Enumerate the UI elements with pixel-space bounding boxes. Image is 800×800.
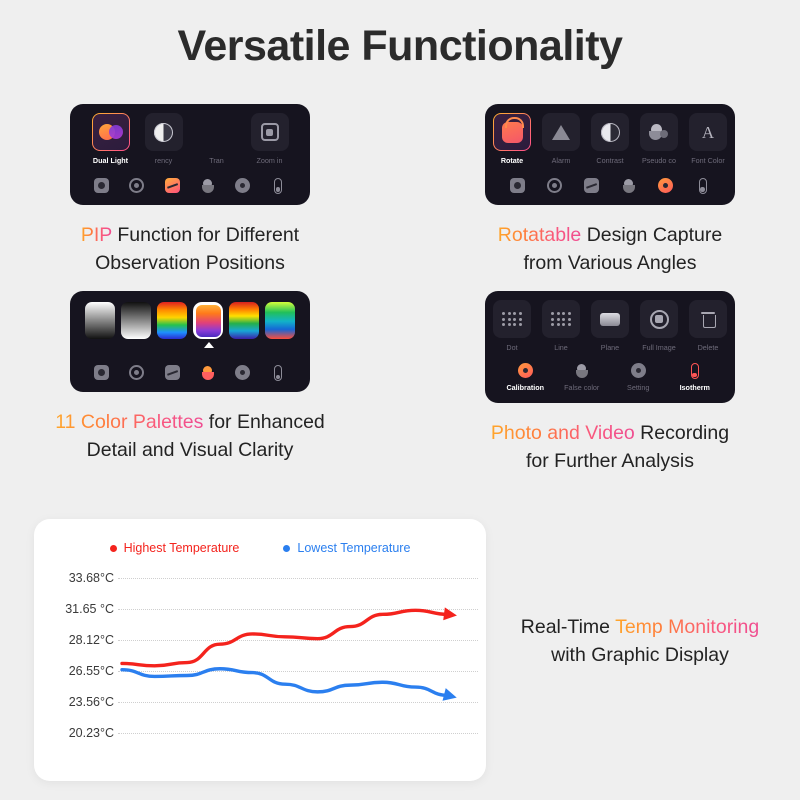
swatch-rainbow-cool[interactable]: [229, 302, 259, 339]
swatch-selected-caret: [70, 342, 310, 352]
toolbar-item-label: False color: [564, 383, 599, 392]
panel-labeled-toolbar: Calibration False color Setting Iso: [485, 352, 735, 396]
chart-lines: [118, 563, 478, 749]
thermometer-icon[interactable]: [694, 177, 711, 194]
thermometer-icon[interactable]: [270, 364, 287, 381]
tile-label: Dot: [506, 343, 517, 352]
tile-plane[interactable]: Plane: [589, 300, 631, 352]
tile-dot[interactable]: Dot: [491, 300, 533, 352]
caption-rotatable: Rotatable Design Capture from Various An…: [498, 222, 722, 277]
swatch-orange-purple[interactable]: [193, 302, 223, 339]
swatch-white-to-black[interactable]: [85, 302, 115, 339]
caption-line2: for Further Analysis: [526, 450, 694, 472]
chart-y-axis: 33.68°C 31.65 °C 28.12°C 26.55°C 23.56°C…: [42, 563, 114, 749]
tile-pseudo-color[interactable]: Pseudo co: [638, 113, 680, 165]
capture-icon[interactable]: [93, 364, 110, 381]
caption-line2: Detail and Visual Clarity: [87, 439, 294, 461]
page-title: Versatile Functionality: [0, 0, 800, 71]
capture-icon[interactable]: [509, 177, 526, 194]
y-tick-label: 23.56°C: [42, 687, 114, 718]
tile-label: rency: [155, 156, 173, 165]
dual-light-icon: [92, 113, 130, 151]
tile-label: Full Image: [642, 343, 676, 352]
caption-rest: Recording: [635, 422, 729, 444]
tile-label: Tran: [209, 156, 224, 165]
transparency-icon: [145, 113, 183, 151]
device-panel-measure[interactable]: Dot Line Plane: [485, 291, 735, 403]
chart-grid: [118, 563, 478, 763]
font-color-icon: A: [689, 113, 727, 151]
calibration-icon: [517, 362, 534, 379]
tile-label: Contrast: [596, 156, 623, 165]
gear-icon[interactable]: [657, 177, 674, 194]
chart-plot-area: 33.68°C 31.65 °C 28.12°C 26.55°C 23.56°C…: [34, 563, 486, 763]
y-tick-label: 33.68°C: [42, 563, 114, 594]
tile-label: Plane: [601, 343, 619, 352]
legend-label-lowest: Lowest Temperature: [297, 541, 410, 555]
y-tick-label: 26.55°C: [42, 656, 114, 687]
caption-rest: for Enhanced: [203, 411, 324, 433]
toolbar-item-false-color[interactable]: False color: [554, 362, 610, 392]
panel-toolbar: [485, 165, 735, 198]
caption-accent: Photo and Video: [491, 422, 635, 444]
temperature-chart-card: Highest Temperature Lowest Temperature 3…: [34, 519, 486, 781]
tile-line[interactable]: Line: [540, 300, 582, 352]
tile-label: Rotate: [501, 156, 523, 165]
plane-measure-icon: [591, 300, 629, 338]
feature-rotatable: Rotate Alarm Contrast Pseudo co: [460, 104, 760, 277]
y-tick-label: 31.65 °C: [42, 594, 114, 625]
chart-icon[interactable]: [164, 177, 181, 194]
tile-label: Dual Light: [93, 156, 128, 165]
tile-alarm[interactable]: Alarm: [540, 113, 582, 165]
alarm-icon: [542, 113, 580, 151]
caption-line2: with Graphic Display: [551, 644, 729, 666]
feature-pip: Dual Light rency Tran Zoom in: [40, 104, 340, 277]
thermometer-icon[interactable]: [270, 177, 287, 194]
target-icon[interactable]: [128, 364, 145, 381]
device-panel-palettes[interactable]: [70, 291, 310, 392]
feature-recording: Dot Line Plane: [460, 291, 760, 475]
palette-icon[interactable]: [199, 364, 216, 381]
toolbar-item-calibration[interactable]: Calibration: [497, 362, 553, 392]
line-measure-icon: [542, 300, 580, 338]
caption-accent: Temp Monitoring: [615, 616, 759, 638]
toolbar-item-isotherm[interactable]: Isotherm: [667, 362, 723, 392]
contrast-icon: [591, 113, 629, 151]
tile-transparency[interactable]: rency: [141, 113, 187, 165]
tile-label: Alarm: [552, 156, 571, 165]
y-tick-label: 20.23°C: [42, 718, 114, 749]
swatch-rainbow-warm[interactable]: [157, 302, 187, 339]
target-icon[interactable]: [128, 177, 145, 194]
gear-icon[interactable]: [234, 177, 251, 194]
panel-toolbar: [70, 352, 310, 385]
tile-label: Font Color: [691, 156, 725, 165]
toolbar-item-label: Calibration: [506, 383, 544, 392]
caption-temp-monitoring: Real-Time Temp Monitoring with Graphic D…: [490, 614, 790, 669]
chart-legend: Highest Temperature Lowest Temperature: [34, 519, 486, 555]
swatch-row: [70, 300, 310, 339]
tile-delete[interactable]: Delete: [687, 300, 729, 352]
feature-row-1: Dual Light rency Tran Zoom in: [0, 104, 800, 277]
swatch-black-to-white[interactable]: [121, 302, 151, 339]
swatch-green-rainbow[interactable]: [265, 302, 295, 339]
caption-accent: 11 Color Palettes: [55, 411, 203, 433]
full-image-icon: [640, 300, 678, 338]
features-grid: Dual Light rency Tran Zoom in: [0, 104, 800, 476]
tile-full-image[interactable]: Full Image: [638, 300, 680, 352]
device-panel-pip[interactable]: Dual Light rency Tran Zoom in: [70, 104, 310, 205]
toolbar-item-setting[interactable]: Setting: [610, 362, 666, 392]
tile-row: Dual Light rency Tran Zoom in: [70, 113, 310, 165]
y-tick-label: 28.12°C: [42, 625, 114, 656]
caption-palettes: 11 Color Palettes for Enhanced Detail an…: [55, 409, 325, 464]
tile-tran[interactable]: Tran: [194, 113, 240, 165]
chart-icon[interactable]: [164, 364, 181, 381]
caption-rest: Function for Different: [112, 224, 299, 246]
legend-item-lowest: Lowest Temperature: [283, 541, 410, 555]
setting-icon: [630, 362, 647, 379]
toolbar-item-label: Setting: [627, 383, 649, 392]
pseudo-color-icon: [640, 113, 678, 151]
tile-row: Rotate Alarm Contrast Pseudo co: [485, 113, 735, 165]
tile-zoom-in[interactable]: Zoom in: [247, 113, 293, 165]
transparency-icon-ghost: [198, 113, 236, 151]
feature-palettes: 11 Color Palettes for Enhanced Detail an…: [40, 291, 340, 475]
caption-accent: PIP: [81, 224, 112, 246]
chart-icon[interactable]: [583, 177, 600, 194]
legend-label-highest: Highest Temperature: [124, 541, 240, 555]
palette-icon[interactable]: [199, 177, 216, 194]
isotherm-icon: [686, 362, 703, 379]
tile-contrast[interactable]: Contrast: [589, 113, 631, 165]
capture-icon[interactable]: [93, 177, 110, 194]
caption-line2: Observation Positions: [95, 252, 285, 274]
target-icon[interactable]: [546, 177, 563, 194]
caption-recording: Photo and Video Recording for Further An…: [491, 420, 729, 475]
toolbar-item-label: Isotherm: [680, 383, 710, 392]
false-color-icon: [573, 362, 590, 379]
legend-item-highest: Highest Temperature: [110, 541, 240, 555]
trash-icon: [689, 300, 727, 338]
legend-dot-highest: [110, 545, 117, 552]
gear-icon[interactable]: [234, 364, 251, 381]
tile-label: Line: [554, 343, 568, 352]
rotate-icon: [493, 113, 531, 151]
caption-lead: Real-Time: [521, 616, 615, 638]
dot-measure-icon: [493, 300, 531, 338]
page-root: Versatile Functionality Dual Light: [0, 0, 800, 800]
caption-pip: PIP Function for Different Observation P…: [81, 222, 299, 277]
device-panel-rotate[interactable]: Rotate Alarm Contrast Pseudo co: [485, 104, 735, 205]
tile-dual-light[interactable]: Dual Light: [88, 113, 134, 165]
panel-toolbar: [70, 165, 310, 198]
feature-row-2: 11 Color Palettes for Enhanced Detail an…: [0, 291, 800, 475]
caption-rest: Design Capture: [581, 224, 722, 246]
caption-line2: from Various Angles: [523, 252, 696, 274]
palette-icon[interactable]: [620, 177, 637, 194]
tile-font-color[interactable]: A Font Color: [687, 113, 729, 165]
tile-label: Delete: [698, 343, 719, 352]
legend-dot-lowest: [283, 545, 290, 552]
caption-accent: Rotatable: [498, 224, 581, 246]
tile-rotate[interactable]: Rotate: [491, 113, 533, 165]
tile-label: Zoom in: [257, 156, 283, 165]
tile-row: Dot Line Plane: [485, 300, 735, 352]
tile-label: Pseudo co: [642, 156, 676, 165]
zoom-in-icon: [251, 113, 289, 151]
